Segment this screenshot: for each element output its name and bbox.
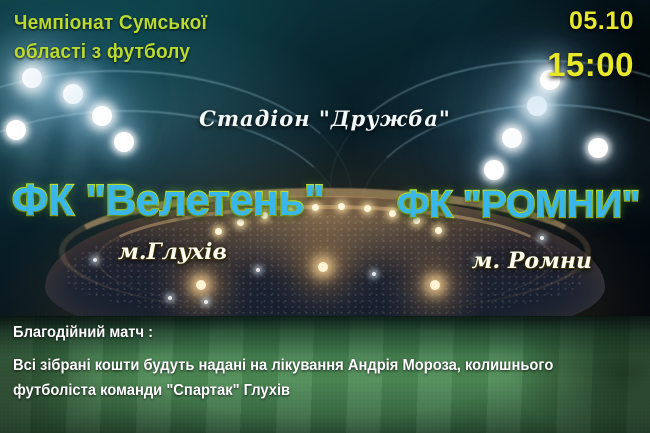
pitch-lamp-3 (430, 280, 440, 290)
floodlight-right-2 (502, 128, 522, 148)
venue-name: Стадіон "Дружба" (0, 106, 650, 131)
home-team-city: м.Глухів (118, 239, 227, 265)
charity-line-3: футболіста команди "Спартак" Глухів (13, 378, 593, 403)
spark-3 (372, 272, 376, 276)
away-team-city: м. Ромни (472, 248, 592, 274)
spark-1 (93, 258, 97, 262)
pitch-lamp-1 (196, 280, 206, 290)
spark-2 (256, 268, 260, 272)
spark-7 (204, 300, 208, 304)
match-date: 05.10 (569, 7, 634, 36)
floodlight-left-4 (114, 132, 134, 152)
floodlight-right-5 (588, 138, 608, 158)
charity-line-2: Всі зібрані кошти будуть надані на лікув… (13, 353, 593, 378)
match-time: 15:00 (547, 46, 634, 84)
charity-heading: Благодійний матч : (13, 320, 593, 345)
floodlight-right-4 (484, 160, 504, 180)
floodlight-left-1 (22, 68, 42, 88)
away-team-name: ФК "РОМНИ" (397, 184, 640, 227)
floodlight-left-2 (63, 84, 83, 104)
home-team-name: ФК "Велетень" (12, 176, 324, 226)
spark-6 (168, 296, 172, 300)
pitch-lamp-2 (318, 262, 328, 272)
spark-5 (540, 236, 544, 240)
charity-notice: Благодійний матч : Всі зібрані кошти буд… (13, 320, 593, 403)
page-title: Чемпіонат Сумської області з футболу (14, 8, 321, 66)
match-poster: Чемпіонат Сумської області з футболу 05.… (0, 0, 650, 433)
